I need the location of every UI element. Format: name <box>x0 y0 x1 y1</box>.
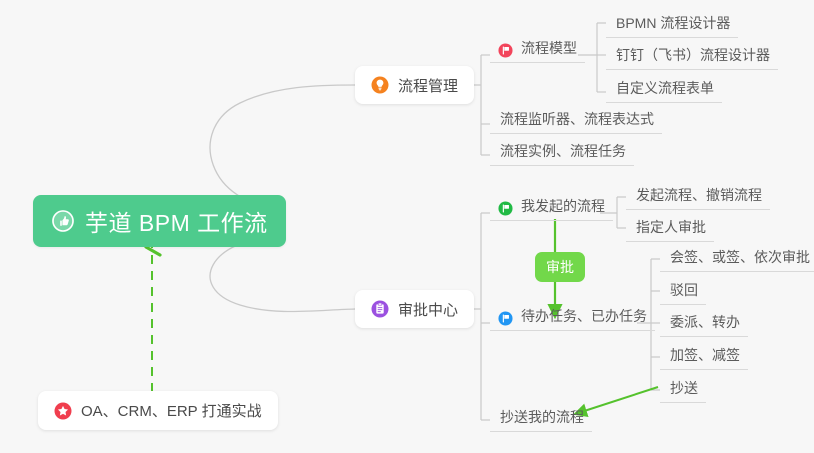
node-process-model[interactable]: 流程模型 <box>490 33 585 63</box>
node-bpmn-designer[interactable]: BPMN 流程设计器 <box>606 8 738 38</box>
node-reject-label: 驳回 <box>670 280 698 300</box>
edge-root-to-process-management <box>210 85 355 207</box>
node-carbon-copy[interactable]: 抄送 <box>660 373 706 403</box>
thumbs-up-icon <box>51 209 75 233</box>
node-countersign-orsign-sequential[interactable]: 会签、或签、依次审批 <box>660 242 814 272</box>
star-icon <box>54 402 72 420</box>
node-countersign-orsign-sequential-label: 会签、或签、依次审批 <box>670 247 810 267</box>
branch-process-management[interactable]: 流程管理 <box>355 66 474 104</box>
bottom-node-integration-label: OA、CRM、ERP 打通实战 <box>81 400 262 421</box>
node-assignee-approval[interactable]: 指定人审批 <box>626 212 714 242</box>
flag-red-icon <box>498 43 513 58</box>
flag-green-icon <box>498 201 513 216</box>
branch-process-management-label: 流程管理 <box>398 75 458 96</box>
edge-root-to-approval-center <box>210 237 355 312</box>
node-custom-process-form-label: 自定义流程表单 <box>616 78 714 98</box>
node-instance-task[interactable]: 流程实例、流程任务 <box>490 136 634 166</box>
node-dingtalk-feishu-designer[interactable]: 钉钉（飞书）流程设计器 <box>606 40 778 70</box>
node-add-remove-sign[interactable]: 加签、减签 <box>660 340 748 370</box>
node-my-initiated-process-label: 我发起的流程 <box>521 196 605 216</box>
flag-blue-icon <box>498 311 513 326</box>
node-cc-to-me-process[interactable]: 抄送我的流程 <box>490 402 592 432</box>
lightbulb-icon <box>371 76 389 94</box>
node-instance-task-label: 流程实例、流程任务 <box>500 141 626 161</box>
node-listener-expression[interactable]: 流程监听器、流程表达式 <box>490 104 662 134</box>
branch-approval-center-label: 审批中心 <box>398 299 458 320</box>
root-node[interactable]: 芋道 BPM 工作流 <box>33 195 286 247</box>
node-dingtalk-feishu-designer-label: 钉钉（飞书）流程设计器 <box>616 45 770 65</box>
root-node-label: 芋道 BPM 工作流 <box>85 204 268 238</box>
node-process-model-label: 流程模型 <box>521 38 577 58</box>
annotation-badge-approval: 审批 <box>535 252 585 282</box>
mindmap-canvas: 芋道 BPM 工作流 流程管理 流程模型 BPMN 流程设计器 钉钉（飞书）流程 <box>0 0 814 453</box>
node-carbon-copy-label: 抄送 <box>670 378 698 398</box>
node-todo-done-tasks-label: 待办任务、已办任务 <box>521 306 647 326</box>
node-listener-expression-label: 流程监听器、流程表达式 <box>500 109 654 129</box>
node-delegate-transfer[interactable]: 委派、转办 <box>660 307 748 337</box>
bottom-node-integration[interactable]: OA、CRM、ERP 打通实战 <box>38 391 278 430</box>
node-reject[interactable]: 驳回 <box>660 275 706 305</box>
node-bpmn-designer-label: BPMN 流程设计器 <box>616 13 730 33</box>
node-start-cancel-process[interactable]: 发起流程、撤销流程 <box>626 180 770 210</box>
node-todo-done-tasks[interactable]: 待办任务、已办任务 <box>490 301 655 331</box>
annotation-badge-approval-label: 审批 <box>546 257 574 277</box>
node-custom-process-form[interactable]: 自定义流程表单 <box>606 73 722 103</box>
branch-approval-center[interactable]: 审批中心 <box>355 290 474 328</box>
node-cc-to-me-process-label: 抄送我的流程 <box>500 407 584 427</box>
node-my-initiated-process[interactable]: 我发起的流程 <box>490 191 613 221</box>
node-assignee-approval-label: 指定人审批 <box>636 217 706 237</box>
clipboard-icon <box>371 300 389 318</box>
node-start-cancel-process-label: 发起流程、撤销流程 <box>636 185 762 205</box>
node-delegate-transfer-label: 委派、转办 <box>670 312 740 332</box>
node-add-remove-sign-label: 加签、减签 <box>670 345 740 365</box>
